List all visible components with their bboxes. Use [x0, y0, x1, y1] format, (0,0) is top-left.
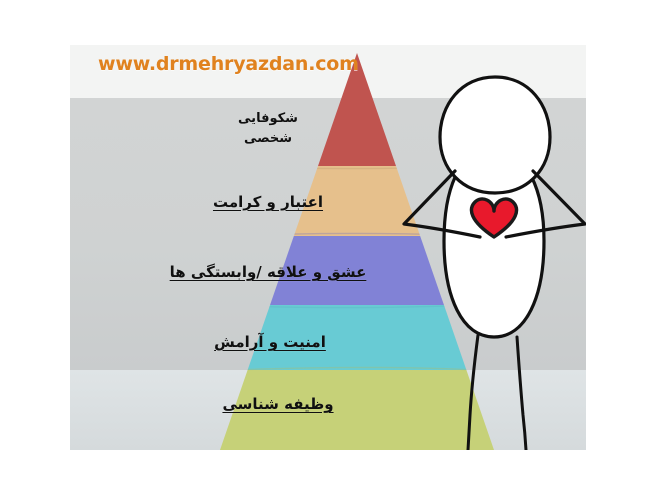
- watermark-url: www.drmehryazdan.com: [98, 53, 359, 75]
- pyramid-label-physiological: وظیفه شناسی: [148, 395, 408, 413]
- figure-left-leg: [468, 335, 478, 450]
- slide-canvas: شکوفایی شخصی اعتبار و کرامت عشق و علاقه …: [0, 0, 653, 480]
- figure-head: [440, 77, 550, 193]
- figure-right-leg: [517, 337, 526, 450]
- pyramid-label-safety: امنیت و آرامش: [140, 333, 400, 351]
- image-content: شکوفایی شخصی اعتبار و کرامت عشق و علاقه …: [70, 45, 586, 450]
- pyramid-label-esteem: اعتبار و کرامت: [158, 193, 378, 211]
- stick-figure-person: [400, 65, 586, 450]
- pyramid-label-line-1: شکوفایی: [178, 109, 358, 129]
- pyramid-label-self-actualization: شکوفایی شخصی: [178, 109, 358, 149]
- pyramid-label-line-2: شخصی: [178, 129, 358, 149]
- pyramid-label-love-belonging: عشق و علاقه /وابستگی ها: [118, 263, 418, 281]
